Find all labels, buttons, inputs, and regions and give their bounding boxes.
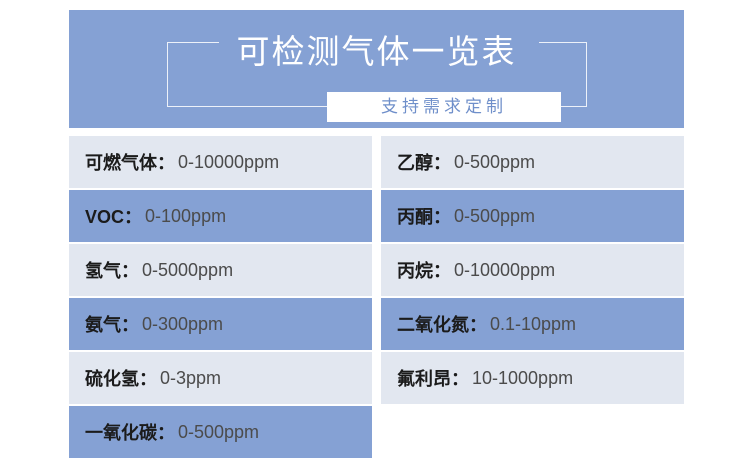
gas-row: 丙烷：0-10000ppm — [381, 244, 684, 296]
gas-range: 0-100ppm — [145, 206, 226, 227]
gas-table-left-column: 可燃气体：0-10000ppmVOC：0-100ppm氢气：0-5000ppm氨… — [69, 136, 372, 458]
gas-name: 氨气： — [85, 311, 139, 337]
gas-row: 丙酮：0-500ppm — [381, 190, 684, 242]
gas-name: 氢气： — [85, 257, 139, 283]
gas-range: 0-10000ppm — [454, 260, 555, 281]
gas-row: 可燃气体：0-10000ppm — [69, 136, 372, 188]
gas-detection-table-page: 可检测气体一览表 支持需求定制 可燃气体：0-10000ppmVOC：0-100… — [0, 0, 750, 474]
gas-range: 0-5000ppm — [142, 260, 233, 281]
gas-name: 二氧化氮： — [397, 311, 487, 337]
gas-row-placeholder — [381, 406, 684, 458]
gas-row: 二氧化氮：0.1-10ppm — [381, 298, 684, 350]
gas-row: VOC：0-100ppm — [69, 190, 372, 242]
subtitle-badge: 支持需求定制 — [327, 92, 561, 122]
gas-range: 0-3ppm — [160, 368, 221, 389]
gas-name: 可燃气体： — [85, 149, 175, 175]
gas-row: 氨气：0-300ppm — [69, 298, 372, 350]
gas-range: 0-10000ppm — [178, 152, 279, 173]
subtitle-text: 支持需求定制 — [381, 97, 507, 117]
gas-name: 硫化氢： — [85, 365, 157, 391]
gas-name: 一氧化碳： — [85, 419, 175, 445]
gas-name: 丙酮： — [397, 203, 451, 229]
gas-range: 0-500ppm — [454, 152, 535, 173]
gas-range: 0-500ppm — [178, 422, 259, 443]
gas-row: 硫化氢：0-3ppm — [69, 352, 372, 404]
gas-name: 丙烷： — [397, 257, 451, 283]
gas-range: 0.1-10ppm — [490, 314, 576, 335]
gas-name: 氟利昂： — [397, 365, 469, 391]
header-banner: 可检测气体一览表 支持需求定制 — [69, 10, 684, 128]
gas-row: 一氧化碳：0-500ppm — [69, 406, 372, 458]
gas-table: 可燃气体：0-10000ppmVOC：0-100ppm氢气：0-5000ppm氨… — [69, 136, 684, 458]
gas-range: 0-300ppm — [142, 314, 223, 335]
gas-name: VOC： — [85, 203, 142, 229]
gas-range: 10-1000ppm — [472, 368, 573, 389]
gas-row: 氟利昂：10-1000ppm — [381, 352, 684, 404]
gas-row: 乙醇：0-500ppm — [381, 136, 684, 188]
gas-range: 0-500ppm — [454, 206, 535, 227]
gas-name: 乙醇： — [397, 149, 451, 175]
page-title: 可检测气体一览表 — [69, 32, 684, 72]
gas-table-right-column: 乙醇：0-500ppm丙酮：0-500ppm丙烷：0-10000ppm二氧化氮：… — [381, 136, 684, 458]
gas-row: 氢气：0-5000ppm — [69, 244, 372, 296]
